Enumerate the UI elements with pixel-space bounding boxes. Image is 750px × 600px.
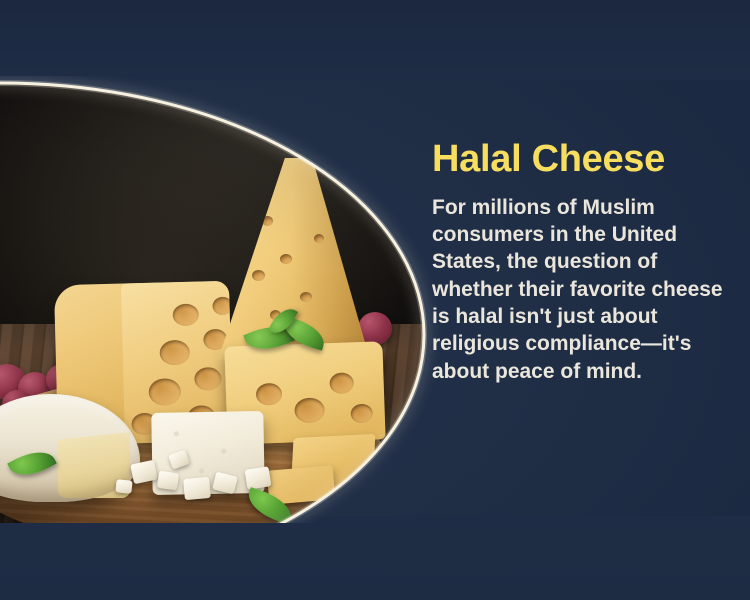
photo-feta-crumb — [115, 479, 132, 494]
photo-feta-crumb — [183, 477, 211, 500]
background-bottom-band — [0, 516, 750, 600]
photo-feta-crumb — [245, 466, 272, 490]
page-title: Halal Cheese — [432, 140, 742, 180]
photo-cheese-hole — [256, 383, 283, 406]
photo-feta-crumb — [157, 471, 179, 491]
photo-cheese-hole — [294, 397, 325, 423]
photo-cheese-hole — [329, 372, 354, 394]
poster-canvas: Halal Cheese For millions of Muslim cons… — [0, 0, 750, 600]
photo-cheese-hole — [350, 404, 373, 424]
text-column: Halal Cheese For millions of Muslim cons… — [432, 140, 742, 385]
background-top-band — [0, 0, 750, 80]
body-paragraph: For millions of Muslim consumers in the … — [432, 194, 742, 385]
photo-cheese-hole — [280, 254, 292, 264]
photo-cheese-hole — [314, 234, 324, 243]
photo-cheese-hole — [300, 292, 312, 302]
photo-cheese-hole — [252, 270, 265, 281]
